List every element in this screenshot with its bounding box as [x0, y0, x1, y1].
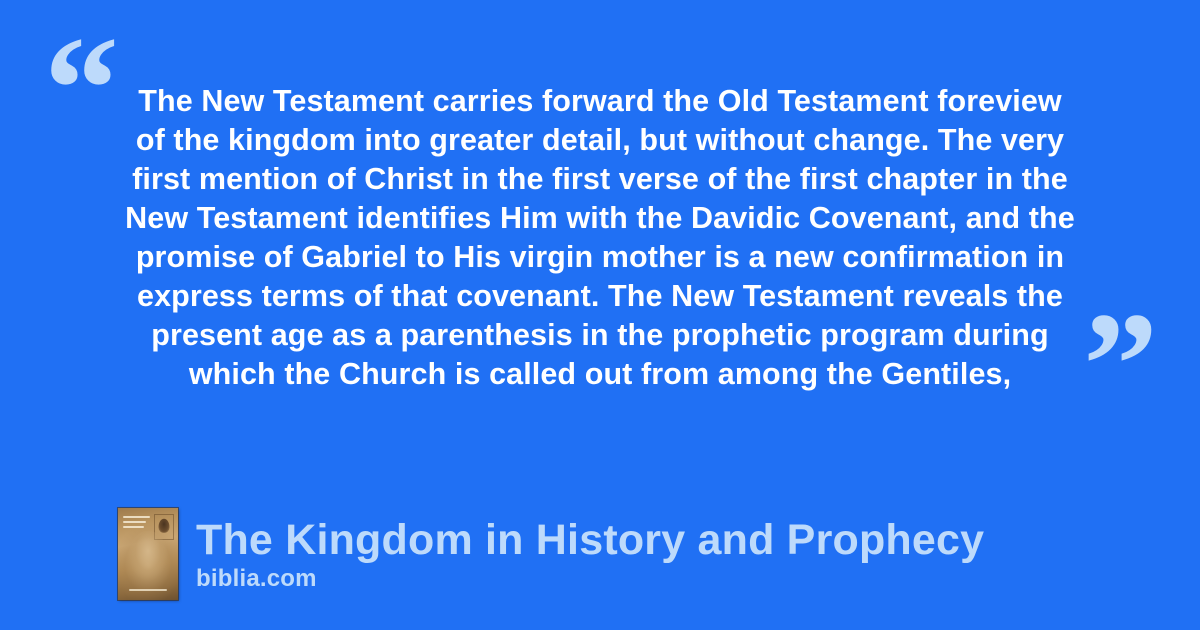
site-name: biblia.com	[196, 564, 984, 593]
book-title: The Kingdom in History and Prophecy	[196, 516, 984, 564]
opening-quote-icon: “	[44, 14, 117, 164]
footer-attribution: The Kingdom in History and Prophecy bibl…	[118, 508, 984, 600]
book-cover-face-watermark	[128, 531, 168, 581]
book-cover-title-lines	[123, 516, 150, 528]
book-cover-thumbnail	[118, 508, 178, 600]
footer-text-group: The Kingdom in History and Prophecy bibl…	[196, 516, 984, 593]
closing-quote-icon: ”	[1083, 290, 1156, 440]
quote-card: “ ” The New Testament carries forward th…	[0, 0, 1200, 630]
book-cover-author-line	[129, 589, 167, 591]
quote-text: The New Testament carries forward the Ol…	[110, 82, 1090, 394]
